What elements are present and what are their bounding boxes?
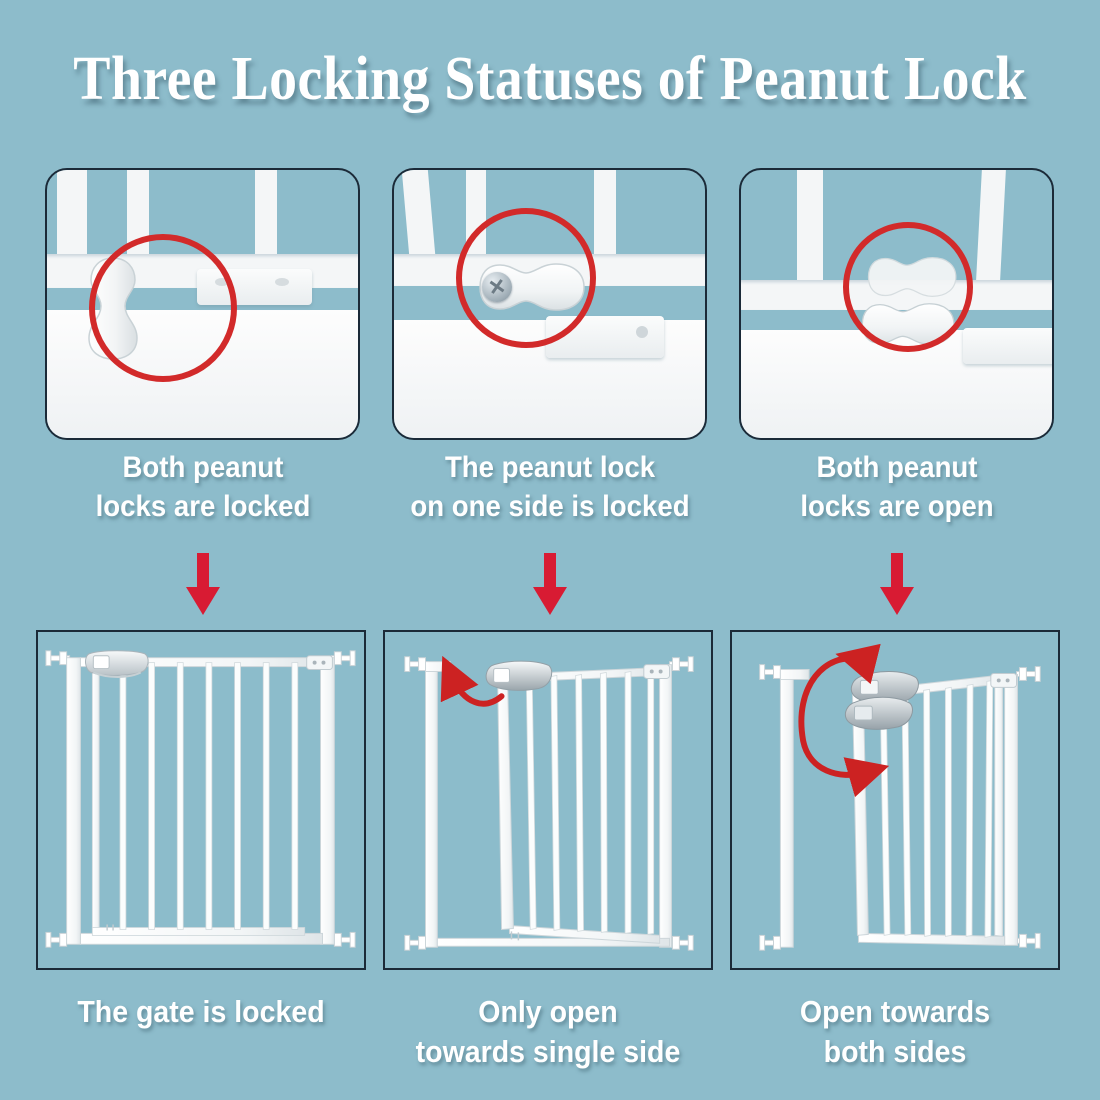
- caption-line: locks are locked: [51, 487, 355, 526]
- caption-line: Only open: [392, 992, 705, 1032]
- caption-line: Both peanut: [51, 448, 355, 487]
- arrow-down-icon: [533, 553, 567, 615]
- arrow-down-icon: [186, 553, 220, 615]
- caption-line: Open towards: [739, 992, 1052, 1032]
- gate-post: [976, 168, 1006, 287]
- photo-panel-both-locked: [45, 168, 360, 440]
- mounting-plate: [963, 328, 1054, 364]
- mounting-plate-screw: [275, 278, 289, 286]
- gate-caption-single-side: Only open towards single side: [392, 992, 705, 1073]
- gate-diagram-both-sides: [730, 630, 1060, 970]
- caption-line: both sides: [739, 1032, 1052, 1072]
- caption-line: towards single side: [392, 1032, 705, 1072]
- photo-caption-both-open: Both peanut locks are open: [745, 448, 1049, 526]
- photo-caption-both-locked: Both peanut locks are locked: [51, 448, 355, 526]
- caption-line: locks are open: [745, 487, 1049, 526]
- gate-diagram-single-side: [383, 630, 713, 970]
- photo-panel-both-open: [739, 168, 1054, 440]
- gate-closeup-scene-1: [47, 170, 358, 438]
- highlight-circle-icon: [456, 208, 596, 348]
- gate-caption-locked: The gate is locked: [45, 992, 358, 1032]
- infographic-page: Three Locking Statuses of Peanut Lock: [0, 0, 1100, 1100]
- gate-closeup-scene-3: [741, 170, 1052, 438]
- gate-post: [57, 168, 87, 266]
- gate-diagram-locked: [36, 630, 366, 970]
- highlight-circle-icon: [843, 222, 973, 352]
- mounting-plate-screw: [636, 326, 648, 338]
- caption-line: The gate is locked: [45, 992, 358, 1032]
- gate-caption-both-sides: Open towards both sides: [739, 992, 1052, 1073]
- gate-post: [255, 168, 277, 266]
- page-title: Three Locking Statuses of Peanut Lock: [55, 44, 1045, 115]
- photo-caption-one-side-locked: The peanut lock on one side is locked: [398, 448, 702, 526]
- gate-closeup-scene-2: [394, 170, 705, 438]
- highlight-circle-icon: [89, 234, 237, 382]
- caption-line: on one side is locked: [398, 487, 702, 526]
- gate-post: [797, 168, 823, 290]
- caption-line: The peanut lock: [398, 448, 702, 487]
- gate-post: [594, 168, 616, 264]
- photo-panel-row: [0, 168, 1100, 440]
- photo-panel-one-side-locked: [392, 168, 707, 440]
- arrow-down-icon: [880, 553, 914, 615]
- caption-line: Both peanut: [745, 448, 1049, 487]
